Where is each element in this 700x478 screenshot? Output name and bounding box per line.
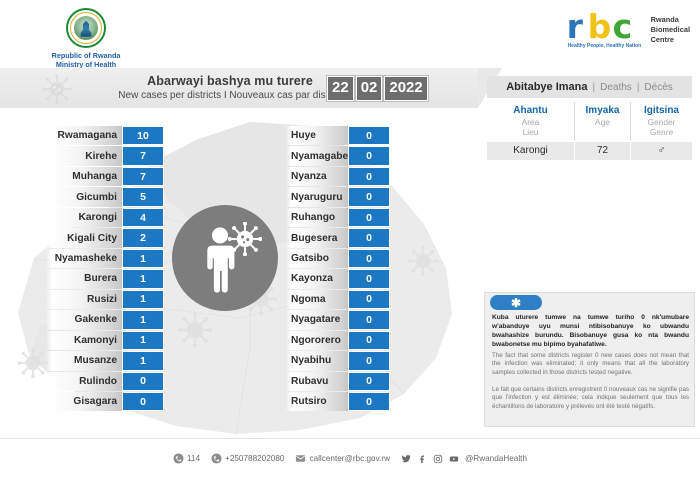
note-text-english: The fact that some districts register 0 … xyxy=(492,352,689,377)
district-case-count: 1 xyxy=(122,290,164,309)
district-row: Kamonyi1 xyxy=(46,331,164,350)
deaths-col-gender: Igitsina Gender Genre xyxy=(631,102,692,141)
district-name: Musanze xyxy=(46,351,122,370)
district-row: Kigali City2 xyxy=(46,228,164,247)
deaths-table: Ahantu Area Lieu Imyaka Age Igitsina Gen… xyxy=(487,102,692,160)
district-case-count: 0 xyxy=(348,331,390,350)
table-row: Karongi 72 ♂ xyxy=(487,141,692,160)
note-text-french: Le fait que certains districts enregistr… xyxy=(492,386,689,411)
district-row: Bugesera0 xyxy=(286,228,390,247)
phone-icon xyxy=(211,453,222,464)
district-row: Kirehe7 xyxy=(46,146,164,165)
footer-contact-bar: 114 +250788202080 callcenter@rbc.gov.rw xyxy=(0,438,700,478)
district-row: Ngoma0 xyxy=(286,290,390,309)
district-name: Bugesera xyxy=(286,228,348,247)
district-name: Nyagatare xyxy=(286,310,348,329)
rbc-name-line2: Biomedical xyxy=(651,25,690,35)
rbc-name-line3: Centre xyxy=(651,35,690,45)
district-name: Rwamagana xyxy=(46,126,122,145)
district-name: Nyaruguru xyxy=(286,187,348,206)
footer-phone-short[interactable]: 114 xyxy=(173,453,200,464)
district-row: Ruhango0 xyxy=(286,208,390,227)
deaths-col-area: Ahantu Area Lieu xyxy=(487,102,575,141)
disclaimer-note-box: ✱ Kuba uturere tumwe na tumwe turiho 0 n… xyxy=(484,292,695,427)
district-name: Gicumbi xyxy=(46,187,122,206)
district-name: Ruhango xyxy=(286,208,348,227)
district-case-count: 0 xyxy=(348,392,390,411)
district-row: Rutsiro0 xyxy=(286,392,390,411)
district-row: Rwamagana10 xyxy=(46,126,164,145)
district-row: Ngororero0 xyxy=(286,331,390,350)
district-case-count: 0 xyxy=(348,228,390,247)
asterisk-icon: ✱ xyxy=(511,297,521,309)
district-case-count: 10 xyxy=(122,126,164,145)
note-tab: ✱ xyxy=(490,295,542,310)
district-case-count: 7 xyxy=(122,146,164,165)
deaths-table-header-row: Ahantu Area Lieu Imyaka Age Igitsina Gen… xyxy=(487,102,692,141)
district-case-count: 4 xyxy=(122,208,164,227)
district-case-count: 0 xyxy=(348,310,390,329)
district-case-count: 7 xyxy=(122,167,164,186)
phone-icon xyxy=(173,453,184,464)
instagram-icon[interactable] xyxy=(433,454,443,464)
district-name: Gakenke xyxy=(46,310,122,329)
moh-line1: Republic of Rwanda xyxy=(30,51,142,60)
deaths-col-area-en: Area xyxy=(487,117,574,127)
district-row: Nyabihu0 xyxy=(286,351,390,370)
district-case-count: 0 xyxy=(348,351,390,370)
footer-phone-full[interactable]: +250788202080 xyxy=(211,453,284,464)
district-case-count: 0 xyxy=(348,208,390,227)
district-case-count: 0 xyxy=(348,126,390,145)
district-name: Rusizi xyxy=(46,290,122,309)
district-row: Musanze1 xyxy=(46,351,164,370)
district-case-count: 0 xyxy=(122,392,164,411)
district-name: Kirehe xyxy=(46,146,122,165)
district-case-count: 0 xyxy=(122,372,164,391)
district-row: Muhanga7 xyxy=(46,167,164,186)
deaths-title-rw: Abitabye Imana xyxy=(506,81,587,93)
footer-handle-text: @RwandaHealth xyxy=(465,454,527,463)
district-row: Nyanza0 xyxy=(286,167,390,186)
date-year: 2022 xyxy=(384,76,427,101)
district-name: Gisagara xyxy=(46,392,122,411)
district-row: Rusizi1 xyxy=(46,290,164,309)
district-row: Gakenke1 xyxy=(46,310,164,329)
district-name: Kamonyi xyxy=(46,331,122,350)
district-case-count: 0 xyxy=(348,269,390,288)
rwanda-coat-of-arms-icon xyxy=(66,8,106,48)
ministry-name: Republic of Rwanda Ministry of Health xyxy=(30,51,142,69)
deaths-panel-header: Abitabye Imana | Deaths | Décès xyxy=(487,76,692,98)
district-row: Gicumbi5 xyxy=(46,187,164,206)
deaths-col-age: Imyaka Age xyxy=(575,102,631,141)
district-name: Rubavu xyxy=(286,372,348,391)
deaths-col-gender-fr: Genre xyxy=(631,127,692,137)
district-name: Nyanza xyxy=(286,167,348,186)
district-case-count: 2 xyxy=(122,228,164,247)
district-case-count: 1 xyxy=(122,331,164,350)
date-day: 22 xyxy=(327,76,354,101)
district-row: Gatsibo0 xyxy=(286,249,390,268)
virus-icon xyxy=(42,74,72,104)
district-name: Karongi xyxy=(46,208,122,227)
district-row: Burera1 xyxy=(46,269,164,288)
footer-social-links: @RwandaHealth xyxy=(401,454,527,464)
note-text-kinyarwanda: Kuba uturere tumwe na tumwe turiho 0 nk'… xyxy=(492,313,689,349)
rbc-fullname: Rwanda Biomedical Centre xyxy=(651,12,690,45)
center-graphic xyxy=(172,205,278,311)
date-month: 02 xyxy=(356,76,383,101)
rbc-name-line1: Rwanda xyxy=(651,15,690,25)
footer-phone-full-text: +250788202080 xyxy=(225,454,284,463)
deaths-title-fr: Décès xyxy=(644,82,672,93)
district-row: Gisagara0 xyxy=(46,392,164,411)
logo-band: Republic of Rwanda Ministry of Health r … xyxy=(0,0,700,68)
district-name: Nyamagabe xyxy=(286,146,348,165)
rbc-letter-r: r xyxy=(567,12,583,42)
rbc-tagline: Healthy People, Healthy Nation xyxy=(568,43,642,49)
deaths-col-gender-en: Gender xyxy=(631,117,692,127)
district-case-count: 0 xyxy=(348,372,390,391)
district-name: Ngoma xyxy=(286,290,348,309)
district-case-count: 0 xyxy=(348,187,390,206)
deaths-title-en: Deaths xyxy=(600,82,632,93)
rbc-logo: r b c Healthy People, Healthy Nation Rwa… xyxy=(567,12,690,56)
district-case-count: 0 xyxy=(348,249,390,268)
deaths-sep-2: | xyxy=(637,82,640,93)
district-case-count: 0 xyxy=(348,290,390,309)
district-name: Nyamasheke xyxy=(46,249,122,268)
report-date: 22 02 2022 xyxy=(327,76,428,101)
district-name: Rutsiro xyxy=(286,392,348,411)
deaths-sep-1: | xyxy=(593,82,596,93)
district-name: Gatsibo xyxy=(286,249,348,268)
district-name: Ngororero xyxy=(286,331,348,350)
district-name: Huye xyxy=(286,126,348,145)
district-name: Rulindo xyxy=(46,372,122,391)
district-list-left: Rwamagana10Kirehe7Muhanga7Gicumbi5Karong… xyxy=(46,126,164,413)
deaths-col-area-fr: Lieu xyxy=(487,127,574,137)
footer-email[interactable]: callcenter@rbc.gov.rw xyxy=(295,453,390,464)
district-name: Muhanga xyxy=(46,167,122,186)
virus-icon xyxy=(228,222,262,256)
deaths-col-age-title: Imyaka xyxy=(575,105,630,117)
district-case-count: 1 xyxy=(122,351,164,370)
youtube-icon[interactable] xyxy=(449,454,459,464)
death-age: 72 xyxy=(575,142,631,160)
district-name: Kayonza xyxy=(286,269,348,288)
rbc-letter-c: c xyxy=(613,12,633,42)
district-name: Kigali City xyxy=(46,228,122,247)
deaths-col-age-fr xyxy=(575,127,630,137)
district-row: Karongi4 xyxy=(46,208,164,227)
district-case-count: 1 xyxy=(122,269,164,288)
district-row: Nyaruguru0 xyxy=(286,187,390,206)
district-row: Huye0 xyxy=(286,126,390,145)
district-row: Nyamasheke1 xyxy=(46,249,164,268)
district-case-count: 0 xyxy=(348,167,390,186)
footer-email-text: callcenter@rbc.gov.rw xyxy=(309,454,390,463)
rbc-wordmark-icon: r b c Healthy People, Healthy Nation xyxy=(567,12,645,46)
district-case-count: 0 xyxy=(348,146,390,165)
district-name: Burera xyxy=(46,269,122,288)
deaths-col-area-title: Ahantu xyxy=(487,105,574,117)
district-row: Kayonza0 xyxy=(286,269,390,288)
district-list-right: Huye0Nyamagabe0Nyanza0Nyaruguru0Ruhango0… xyxy=(286,126,390,413)
ministry-of-health-logo: Republic of Rwanda Ministry of Health xyxy=(30,8,142,69)
twitter-icon[interactable] xyxy=(401,454,411,464)
district-row: Rubavu0 xyxy=(286,372,390,391)
facebook-icon[interactable] xyxy=(417,454,427,464)
district-row: Nyagatare0 xyxy=(286,310,390,329)
district-name: Nyabihu xyxy=(286,351,348,370)
district-case-count: 1 xyxy=(122,249,164,268)
death-area: Karongi xyxy=(487,142,575,160)
district-row: Nyamagabe0 xyxy=(286,146,390,165)
district-row: Rulindo0 xyxy=(46,372,164,391)
infographic-page: Republic of Rwanda Ministry of Health r … xyxy=(0,0,700,478)
district-case-count: 5 xyxy=(122,187,164,206)
footer-phone-short-text: 114 xyxy=(187,454,200,463)
district-case-count: 1 xyxy=(122,310,164,329)
rbc-letter-b: b xyxy=(588,12,612,42)
deaths-col-gender-title: Igitsina xyxy=(631,105,692,117)
email-icon xyxy=(295,453,306,464)
map-and-districts-area: Rwamagana10Kirehe7Muhanga7Gicumbi5Karong… xyxy=(0,108,478,438)
deaths-col-age-en: Age xyxy=(575,117,630,127)
male-gender-icon: ♂ xyxy=(631,142,692,160)
